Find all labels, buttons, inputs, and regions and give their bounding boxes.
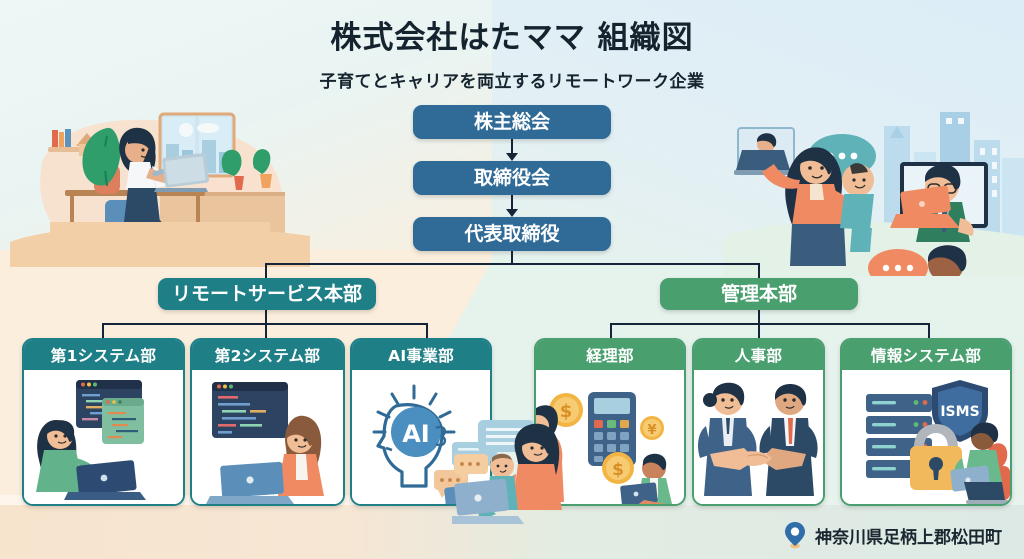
card-illustration-server-lock-shield: ISMS xyxy=(842,370,1010,504)
connector-to-sys1 xyxy=(102,323,104,339)
page-subtitle: 子育てとキャリアを両立するリモートワーク企業 xyxy=(0,67,1024,92)
card-header-label: 第2システム部 xyxy=(192,340,343,370)
connector-right-department-bus xyxy=(610,323,930,325)
node-board-of-directors[interactable]: 取締役会 xyxy=(413,161,611,195)
node-representative-director[interactable]: 代表取締役 xyxy=(413,217,611,251)
card-information-system-department[interactable]: 情報システム部 ISMS xyxy=(840,338,1012,506)
node-label: 取締役会 xyxy=(474,169,550,188)
card-second-system-department[interactable]: 第2システム部 xyxy=(190,338,345,506)
isms-badge-text: ISMS xyxy=(940,404,979,420)
arrow-head-ceo xyxy=(506,209,518,217)
location-label: 神奈川県足柄上郡松田町 xyxy=(815,523,1002,548)
connector-to-hr xyxy=(758,323,760,339)
card-header-label: 経理部 xyxy=(536,340,684,370)
arrow-head-board xyxy=(506,153,518,161)
card-hr-department[interactable]: 人事部 xyxy=(692,338,825,506)
node-label: リモートサービス本部 xyxy=(172,285,362,304)
card-illustration-developer-code-window xyxy=(192,370,343,504)
connector-to-accounting xyxy=(610,323,612,339)
location-footer: 神奈川県足柄上郡松田町 xyxy=(784,521,1002,549)
card-illustration-handshake xyxy=(694,370,823,504)
svg-text:¥: ¥ xyxy=(647,423,656,438)
map-pin-icon xyxy=(784,521,806,549)
illustration-home-office-worker xyxy=(10,92,310,267)
node-label: 管理本部 xyxy=(721,285,797,304)
ai-badge-text: AI xyxy=(402,420,430,448)
card-first-system-department[interactable]: 第1システム部 xyxy=(22,338,185,506)
card-header-label: 第1システム部 xyxy=(24,340,183,370)
node-shareholders-meeting[interactable]: 株主総会 xyxy=(413,105,611,139)
card-header-label: AI事業部 xyxy=(352,340,490,370)
illustration-mother-baby-laptop xyxy=(452,418,602,530)
node-label: 代表取締役 xyxy=(464,225,559,244)
card-illustration-developer-coding xyxy=(24,370,183,504)
connector-to-ai xyxy=(426,323,428,339)
connector-admin-division-drop xyxy=(758,310,760,324)
connector-to-remote-division xyxy=(265,263,267,279)
illustration-remote-family-workers xyxy=(724,96,1024,276)
chart-header: 株式会社はたママ 組織図 子育てとキャリアを両立するリモートワーク企業 xyxy=(0,12,1024,92)
connector-to-info-sys xyxy=(928,323,930,339)
connector-to-sys2 xyxy=(265,323,267,339)
svg-text:$: $ xyxy=(612,460,624,480)
node-administration-division[interactable]: 管理本部 xyxy=(660,278,858,310)
connector-division-bus xyxy=(265,263,760,265)
page-title: 株式会社はたママ 組織図 xyxy=(0,12,1024,57)
node-label: 株主総会 xyxy=(474,113,550,132)
organization-chart-canvas: 株式会社はたママ 組織図 子育てとキャリアを両立するリモートワーク企業 株主総会… xyxy=(0,0,1024,559)
connector-remote-division-drop xyxy=(265,310,267,324)
card-header-label: 人事部 xyxy=(694,340,823,370)
card-header-label: 情報システム部 xyxy=(842,340,1010,370)
node-remote-service-division[interactable]: リモートサービス本部 xyxy=(158,278,376,310)
connector-to-admin-division xyxy=(758,263,760,279)
